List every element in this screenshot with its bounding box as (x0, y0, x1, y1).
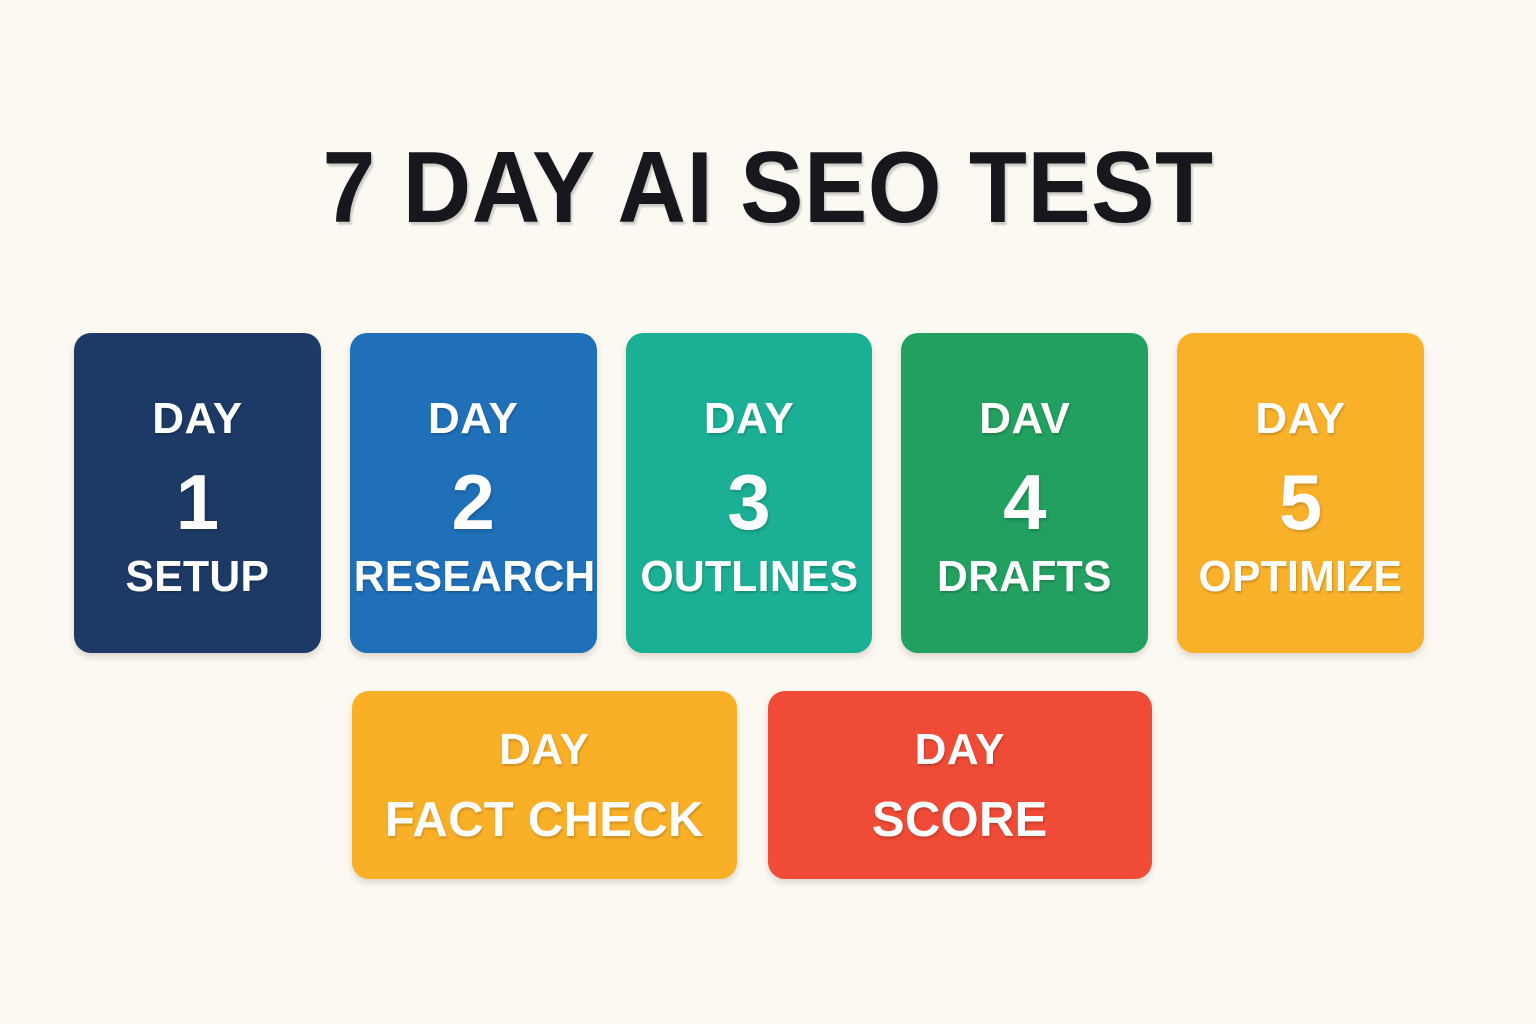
day-card-2-day-word: DAY (428, 397, 518, 441)
day-card-3[interactable]: DAY 3 OUTLINES (626, 333, 873, 653)
day-cards-row-top: DAY 1 SETUP DAY 2 RESEARCH DAY 3 OUTLINE… (74, 333, 1424, 653)
day-card-5[interactable]: DAY 5 OPTIMIZE (1177, 333, 1424, 653)
day-card-2-number: 2 (452, 463, 495, 541)
day-card-3-day-word: DAY (704, 397, 794, 441)
day-card-7[interactable]: DAY SCORE (768, 691, 1153, 879)
day-card-5-label: OPTIMIZE (1181, 555, 1420, 599)
day-card-4[interactable]: DAV 4 DRAFTS (901, 333, 1148, 653)
day-card-2[interactable]: DAY 2 RESEARCH (350, 333, 597, 653)
day-card-3-number: 3 (727, 463, 770, 541)
day-card-6[interactable]: DAY FACT CHECK (352, 691, 737, 879)
day-card-6-label: FACT CHECK (385, 796, 704, 845)
day-card-7-label: SCORE (872, 796, 1048, 845)
day-cards-row-bottom: DAY FACT CHECK DAY SCORE (352, 691, 1152, 879)
day-card-3-label: OUTLINES (629, 555, 868, 599)
day-card-7-day-word: DAY (915, 728, 1005, 772)
day-card-5-day-word: DAY (1255, 397, 1345, 441)
day-card-1-day-word: DAY (152, 397, 242, 441)
day-card-2-label: RESEARCH (353, 555, 592, 599)
day-card-5-number: 5 (1279, 463, 1322, 541)
day-card-4-label: DRAFTS (905, 555, 1144, 599)
day-card-1[interactable]: DAY 1 SETUP (74, 333, 321, 653)
day-card-1-number: 1 (176, 463, 219, 541)
day-card-1-label: SETUP (78, 555, 317, 599)
infographic-canvas: 7 DAY AI SEO TEST DAY 1 SETUP DAY 2 RESE… (0, 0, 1536, 1024)
page-title: 7 DAY AI SEO TEST (46, 138, 1490, 239)
day-card-4-number: 4 (1003, 463, 1046, 541)
day-card-4-day-word: DAV (979, 397, 1070, 441)
day-card-6-day-word: DAY (499, 728, 589, 772)
